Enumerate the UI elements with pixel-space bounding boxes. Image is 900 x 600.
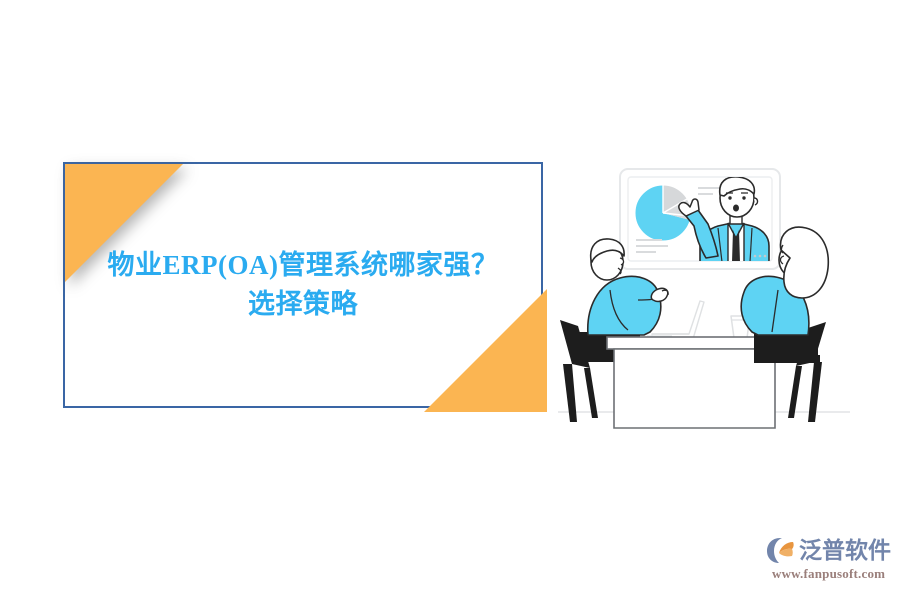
brand-name: 泛普软件 xyxy=(799,539,891,562)
brand-logo-row: 泛普软件 xyxy=(766,536,894,564)
corner-accent-bottom-right-wrap xyxy=(423,287,547,412)
slide-canvas: 物业ERP(OA)管理系统哪家强？ 选择策略 xyxy=(0,0,900,600)
corner-accent-bottom-right-icon xyxy=(424,289,547,412)
brand-url: www.fanpusoft.com xyxy=(772,566,894,582)
brand-logo: 泛普软件 www.fanpusoft.com xyxy=(766,536,894,592)
screen-dots-icon xyxy=(754,255,767,258)
corner-accent-top-left-icon xyxy=(65,164,183,282)
wall-screen xyxy=(620,169,780,269)
title-card: 物业ERP(OA)管理系统哪家强？ 选择策略 xyxy=(63,162,543,408)
video-conference-illustration xyxy=(550,150,900,450)
page-title-line-2: 选择策略 xyxy=(248,285,358,324)
fanpu-logo-mark-icon xyxy=(766,536,796,564)
